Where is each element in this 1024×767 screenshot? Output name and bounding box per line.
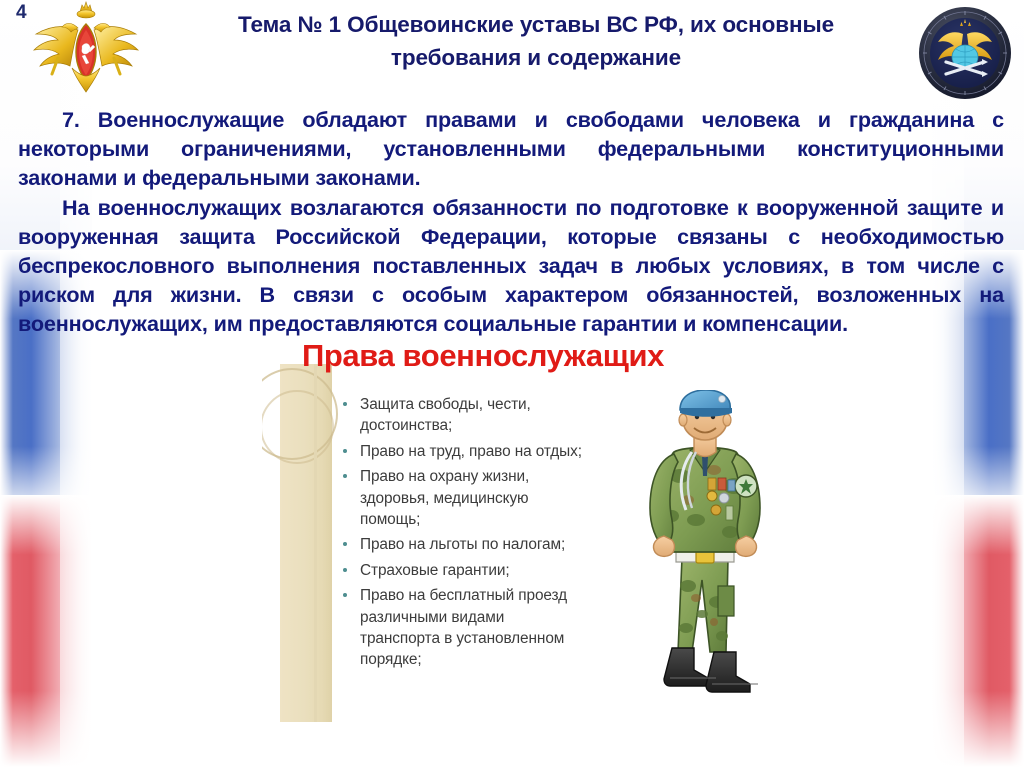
rights-infographic-image: Права военнослужащих Защита свободы, чес… — [262, 336, 802, 722]
page-title: Тема № 1 Общевоинские уставы ВС РФ, их о… — [176, 8, 896, 74]
page-title-line-1: Тема № 1 Общевоинские уставы ВС РФ, их о… — [176, 8, 896, 41]
soldier-illustration — [630, 390, 790, 708]
flag-band-red-left — [0, 495, 92, 767]
list-item: Право на труд, право на отдых; — [338, 441, 588, 462]
list-item: Право на охрану жизни, здоровья, медицин… — [338, 466, 588, 530]
body-paragraph-2: На военнослужащих возлагаются обязанност… — [18, 193, 1004, 339]
list-item: Страховые гарантии; — [338, 560, 588, 581]
rights-list: Защита свободы, чести, достоинства; Прав… — [338, 394, 588, 675]
body-text: 7. Военнослужащие обладают правами и сво… — [18, 105, 1004, 339]
page-title-line-2: требования и содержание — [176, 41, 896, 74]
slide-number: 4 — [16, 2, 27, 24]
list-item: Право на бесплатный проезд различными ви… — [338, 585, 588, 671]
presentation-slide: 4 — [0, 0, 1024, 767]
infographic-title: Права военнослужащих — [302, 338, 664, 374]
body-paragraph-1: 7. Военнослужащие обладают правами и сво… — [18, 105, 1004, 193]
list-item: Защита свободы, чести, достоинства; — [338, 394, 588, 437]
list-item: Право на льготы по налогам; — [338, 534, 588, 555]
armed-forces-emblem-icon — [28, 0, 144, 104]
flag-band-red-right — [932, 495, 1024, 767]
agency-round-emblem-icon — [916, 4, 1014, 102]
infographic-side-panel — [280, 364, 332, 722]
infographic-panel-divider — [314, 364, 317, 722]
